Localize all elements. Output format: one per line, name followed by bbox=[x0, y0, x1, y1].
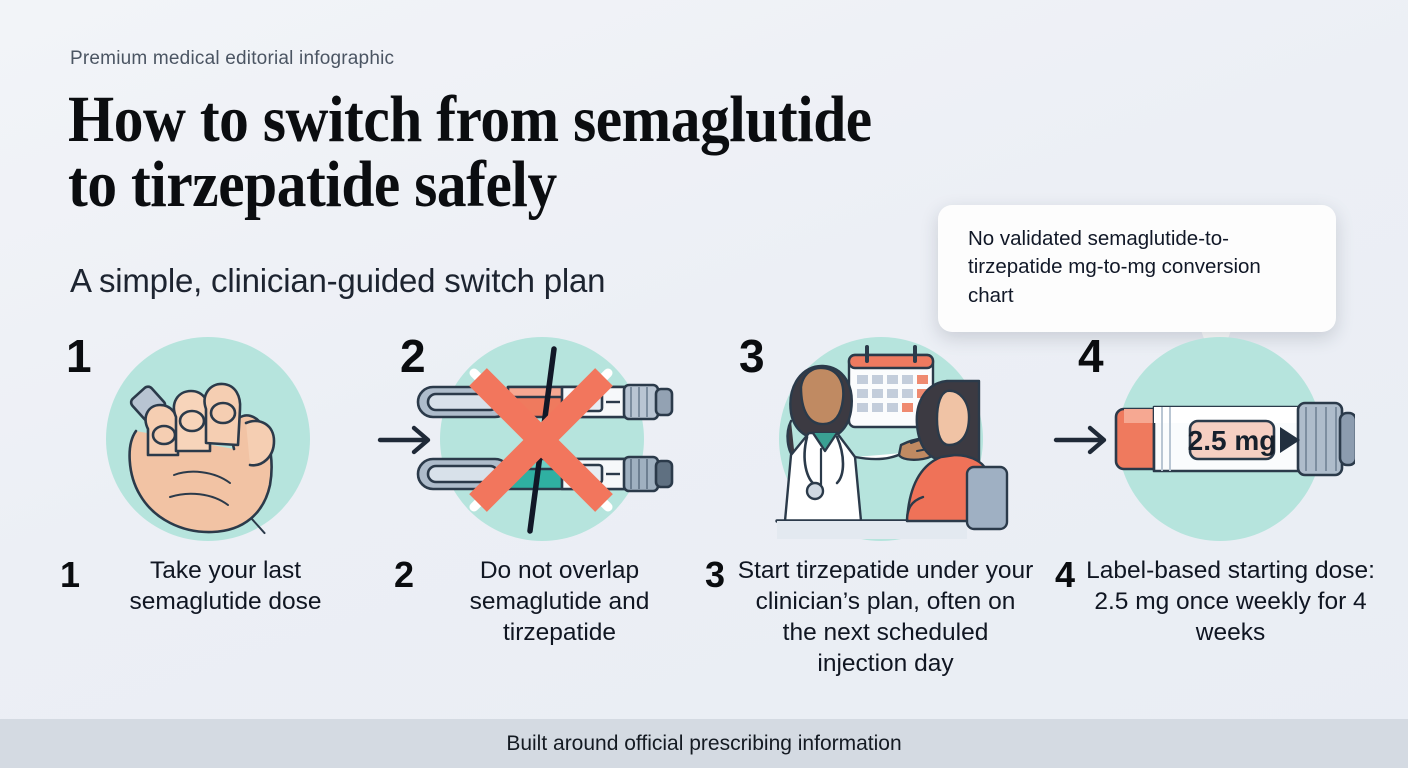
dose-label: 2.5 mg bbox=[1188, 425, 1277, 456]
step-3: 3 bbox=[731, 325, 1031, 550]
caption-1-number: 1 bbox=[60, 556, 80, 594]
step-4: 4 bbox=[1070, 325, 1370, 550]
caption-2-text: Do not overlap semaglutide and tirzepati… bbox=[425, 556, 694, 649]
caption-4-text: Label-based starting dose: 2.5 mg once w… bbox=[1086, 556, 1375, 649]
hand-holding-injection-pen-icon bbox=[78, 325, 343, 550]
page-title: How to switch from semaglutide to tirzep… bbox=[68, 88, 896, 217]
page-title-line-2: to tirzepatide safely bbox=[68, 153, 896, 218]
footer-bar: Built around official prescribing inform… bbox=[0, 719, 1408, 768]
clinician-patient-consultation-icon bbox=[751, 325, 1016, 550]
caption-1-text: Take your last semaglutide dose bbox=[91, 556, 360, 618]
two-pens-crossed-out-icon bbox=[412, 325, 677, 550]
step-1: 1 bbox=[58, 325, 358, 550]
steps-strip: 1 bbox=[0, 325, 1408, 550]
step-2-number: 2 bbox=[400, 333, 426, 379]
arrow-step-1-to-2-icon bbox=[376, 420, 438, 460]
footer-text: Built around official prescribing inform… bbox=[506, 732, 901, 756]
caption-3-number: 3 bbox=[705, 556, 725, 594]
caption-4-number: 4 bbox=[1055, 556, 1075, 594]
page-subtitle: A simple, clinician-guided switch plan bbox=[70, 262, 605, 300]
pen-dose-window-icon: 2.5 mg bbox=[1090, 325, 1355, 550]
captions-row: 1 Take your last semaglutide dose 2 Do n… bbox=[0, 556, 1408, 706]
page-title-line-1: How to switch from semaglutide bbox=[68, 88, 896, 153]
infographic-canvas: Premium medical editorial infographic Ho… bbox=[0, 0, 1408, 768]
step-3-number: 3 bbox=[739, 333, 765, 379]
arrow-step-2-to-3-icon bbox=[1052, 420, 1114, 460]
caption-step-4: 4 Label-based starting dose: 2.5 mg once… bbox=[1055, 556, 1375, 649]
caption-step-1: 1 Take your last semaglutide dose bbox=[60, 556, 360, 618]
eyebrow-label: Premium medical editorial infographic bbox=[70, 48, 394, 70]
step-1-number: 1 bbox=[66, 333, 92, 379]
caption-2-number: 2 bbox=[394, 556, 414, 594]
callout-text: No validated semaglutide-to-tirzepatide … bbox=[968, 225, 1312, 310]
caption-3-text: Start tirzepatide under your clinician’s… bbox=[736, 556, 1035, 679]
step-4-number: 4 bbox=[1078, 333, 1104, 379]
caption-step-2: 2 Do not overlap semaglutide and tirzepa… bbox=[394, 556, 694, 649]
caption-step-3: 3 Start tirzepatide under your clinician… bbox=[705, 556, 1035, 679]
callout-bubble: No validated semaglutide-to-tirzepatide … bbox=[938, 205, 1336, 332]
